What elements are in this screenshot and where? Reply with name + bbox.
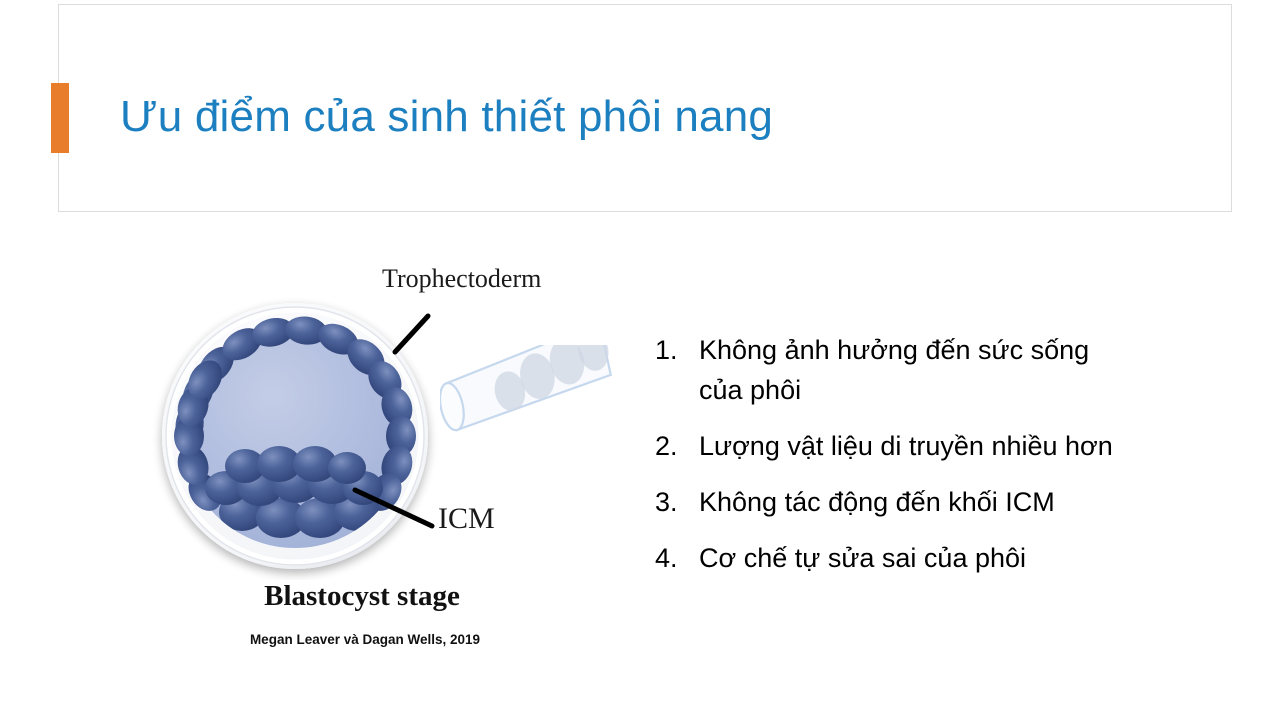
list-item-label: Lượng vật liệu di truyền nhiều hơn bbox=[699, 426, 1113, 466]
advantages-list: 1. Không ảnh hưởng đến sức sống của phôi… bbox=[655, 330, 1215, 594]
list-item: 1. Không ảnh hưởng đến sức sống của phôi bbox=[655, 330, 1215, 410]
presentation-slide: Ưu điểm của sinh thiết phôi nang bbox=[0, 0, 1280, 720]
list-item: 2. Lượng vật liệu di truyền nhiều hơn bbox=[655, 426, 1215, 466]
figure-label-trophectoderm: Trophectoderm bbox=[382, 264, 541, 294]
page-title: Ưu điểm của sinh thiết phôi nang bbox=[120, 86, 1120, 148]
biopsy-pipette-icon bbox=[440, 345, 620, 455]
list-item-number: 1. bbox=[655, 330, 699, 370]
list-item-label: Không tác động đến khối ICM bbox=[699, 482, 1055, 522]
list-item: 4. Cơ chế tự sửa sai của phôi bbox=[655, 538, 1215, 578]
figure-label-icm: ICM bbox=[438, 502, 495, 536]
figure-caption-stage: Blastocyst stage bbox=[197, 580, 527, 613]
list-item-number: 2. bbox=[655, 426, 699, 466]
blastocyst-figure: Trophectoderm ICM Blastocyst stage Megan… bbox=[140, 250, 620, 650]
list-item-number: 4. bbox=[655, 538, 699, 578]
blastocyst-illustration-icon bbox=[150, 290, 440, 580]
list-item-label: Không ảnh hưởng đến sức sống của phôi bbox=[699, 330, 1129, 410]
list-item: 3. Không tác động đến khối ICM bbox=[655, 482, 1215, 522]
title-accent-bar bbox=[51, 83, 69, 153]
list-item-number: 3. bbox=[655, 482, 699, 522]
list-item-label: Cơ chế tự sửa sai của phôi bbox=[699, 538, 1026, 578]
figure-credit: Megan Leaver và Dagan Wells, 2019 bbox=[180, 632, 550, 647]
